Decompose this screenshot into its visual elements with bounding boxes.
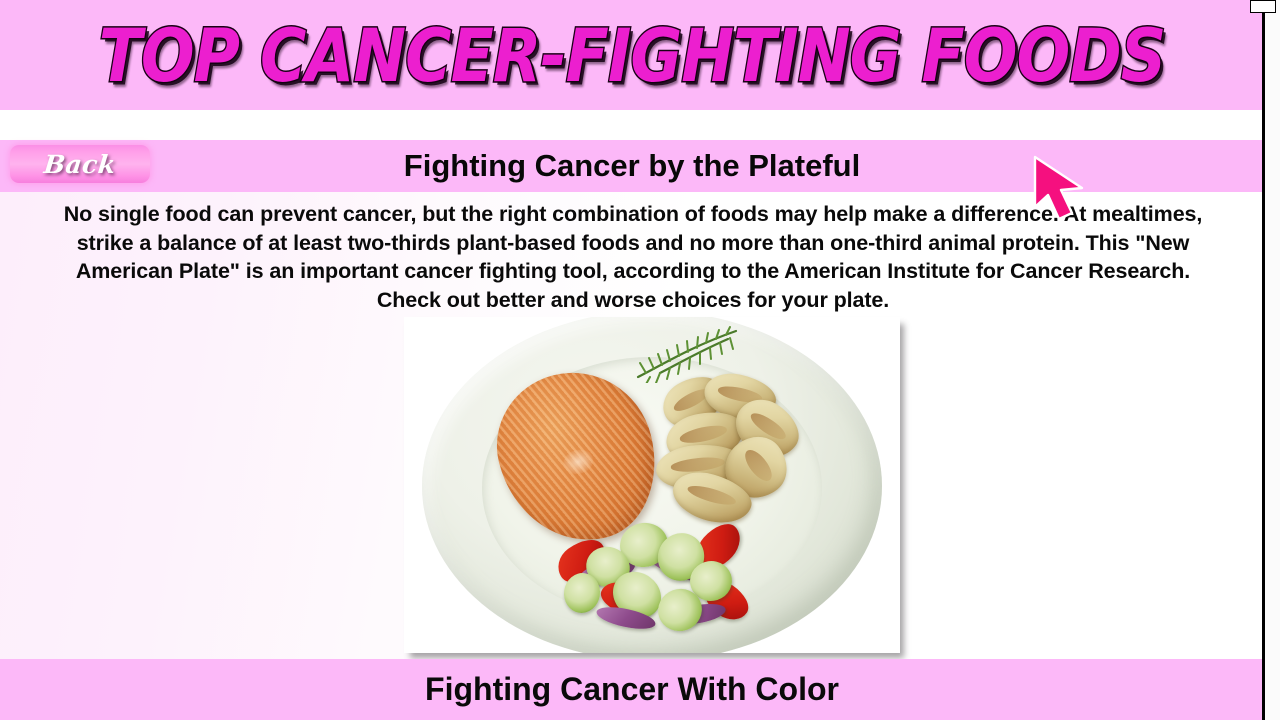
- back-button-label: Back: [43, 150, 118, 179]
- page-title: TOP CANCER-FIGHTING FOODS: [0, 0, 1277, 120]
- body-paragraph: No single food can prevent cancer, but t…: [48, 200, 1218, 314]
- food-photo: [404, 317, 900, 653]
- slide-page: TOP CANCER-FIGHTING FOODS Fighting Cance…: [0, 0, 1280, 720]
- section-heading: Fighting Cancer by the Plateful: [0, 140, 1264, 192]
- window-edge-rule: [1262, 0, 1265, 720]
- back-button[interactable]: Back: [10, 145, 150, 183]
- banner-divider: [0, 110, 1264, 140]
- footer-heading: Fighting Cancer With Color: [0, 659, 1264, 720]
- food-photo-inner: [404, 317, 900, 653]
- window-corner-widget[interactable]: [1250, 0, 1276, 13]
- window-gutter: [1265, 0, 1280, 720]
